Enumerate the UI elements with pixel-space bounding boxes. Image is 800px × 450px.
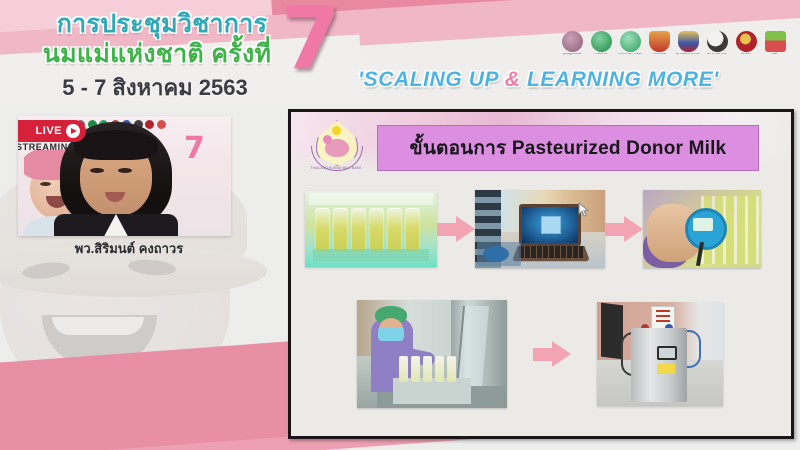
- sponsor-caption-6: สมาคมฯ: [734, 53, 758, 56]
- tagline-ampersand: &: [505, 68, 521, 91]
- conference-tagline: 'SCALING UP & LEARNING MORE': [358, 68, 790, 92]
- tagline-post: LEARNING MORE': [521, 68, 719, 91]
- sponsor-logo-5: สภาการพยาบาล: [705, 26, 729, 56]
- sponsor-caption-4: สถาบันพระบรมราชชนก: [676, 53, 700, 56]
- slide-title-banner: ขั้นตอนการ Pasteurized Donor Milk: [377, 125, 759, 171]
- tagline-pre: 'SCALING UP: [358, 68, 505, 91]
- live-badge: LIVE: [18, 120, 86, 142]
- process-arrow-2: [605, 216, 643, 242]
- process-arrow-1: [437, 216, 475, 242]
- conference-header: การประชุมวิชาการ นมแม่แห่งชาติ ครั้งที่ …: [0, 0, 800, 104]
- poster-edition-number: 7: [184, 134, 205, 164]
- presentation-slide-panel: THAILAND HUMAN MILK BANK ขั้นตอนการ Past…: [288, 109, 794, 439]
- sponsor-caption-7: สสส.: [763, 53, 787, 56]
- live-stream-video[interactable]: การประชุมวิชาการ นมแม่แห่งชาติ ครั้งที่ …: [18, 116, 231, 236]
- human-milk-bank-logo: THAILAND HUMAN MILK BANK: [307, 118, 365, 176]
- conference-title-line2: นมแม่แห่งชาติ ครั้งที่: [12, 34, 302, 74]
- sponsor-caption-1: กรมอนามัย: [589, 53, 613, 56]
- sponsor-logo-4: สถาบันพระบรมราชชนก: [676, 26, 700, 56]
- sponsor-logo-2: กระทรวงสาธารณสุข: [618, 26, 642, 56]
- sponsor-caption-5: สภาการพยาบาล: [705, 53, 729, 56]
- mouse-pointer: [578, 202, 590, 218]
- sponsor-logo-3: ราชวิทยาลัย: [647, 26, 671, 56]
- process-arrow-3: [533, 341, 571, 367]
- sponsor-logo-6: สมาคมฯ: [734, 26, 758, 56]
- sponsor-logo-1: กรมอนามัย: [589, 26, 613, 56]
- sponsor-logo-row: มูลนิธิศูนย์นมแม่ กรมอนามัย กระทรวงสาธาร…: [560, 26, 787, 56]
- pasteurizer-machine-photo: [597, 302, 723, 406]
- slide-title-text: ขั้นตอนการ Pasteurized Donor Milk: [410, 133, 727, 163]
- sponsor-logo-7: สสส.: [763, 26, 787, 56]
- process-row-1: [305, 190, 777, 268]
- sponsor-logo-0: มูลนิธิศูนย์นมแม่: [560, 26, 584, 56]
- sponsor-caption-0: มูลนิธิศูนย์นมแม่: [560, 53, 584, 56]
- speaker-name: พว.สิริมนต์ คงถาวร: [14, 238, 244, 259]
- nurse-laminar-hood-photo: [357, 300, 507, 408]
- process-row-2: [357, 300, 777, 408]
- sponsor-caption-3: ราชวิทยาลัย: [647, 53, 671, 56]
- edition-number: 7: [281, 0, 341, 82]
- temperature-probe-photo: [643, 190, 761, 268]
- milk-bottles-rack-photo: [305, 191, 437, 267]
- streaming-label: STREAMING: [18, 142, 75, 152]
- slide-screenshot: การประชุมวิชาการ นมแม่แห่งชาติ ครั้งที่ …: [0, 0, 800, 450]
- play-icon: [66, 124, 80, 138]
- sponsor-caption-2: กระทรวงสาธารณสุข: [618, 53, 642, 56]
- milk-bank-caption: THAILAND HUMAN MILK BANK: [307, 166, 365, 170]
- live-badge-label: LIVE: [36, 125, 62, 137]
- conference-dates: 5 - 7 สิงหาคม 2563: [30, 70, 280, 104]
